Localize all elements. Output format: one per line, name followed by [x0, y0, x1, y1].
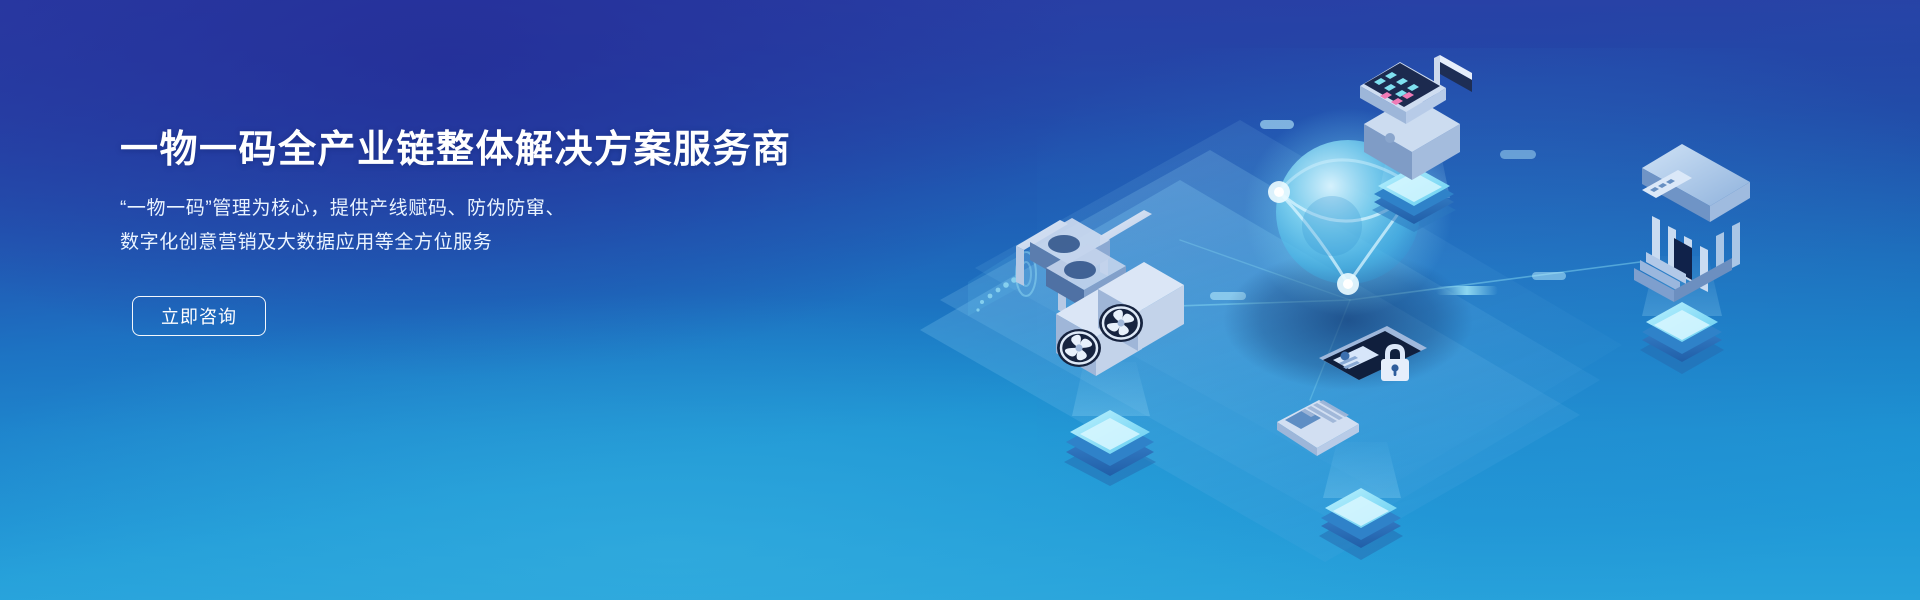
- consult-now-button[interactable]: 立即咨询: [132, 296, 266, 336]
- subtitle-line-1: “一物一码”管理为核心，提供产线赋码、防伪防窜、: [120, 192, 840, 226]
- bank-building-icon: [1634, 144, 1750, 374]
- hero-subtitle: “一物一码”管理为核心，提供产线赋码、防伪防窜、 数字化创意营销及大数据应用等全…: [120, 192, 840, 260]
- isometric-network-illustration: [880, 0, 1920, 600]
- hero-banner: 一物一码全产业链整体解决方案服务商 “一物一码”管理为核心，提供产线赋码、防伪防…: [0, 0, 1920, 600]
- hero-content: 一物一码全产业链整体解决方案服务商 “一物一码”管理为核心，提供产线赋码、防伪防…: [120, 128, 840, 336]
- page-title: 一物一码全产业链整体解决方案服务商: [120, 128, 840, 174]
- subtitle-line-2: 数字化创意营销及大数据应用等全方位服务: [120, 226, 840, 260]
